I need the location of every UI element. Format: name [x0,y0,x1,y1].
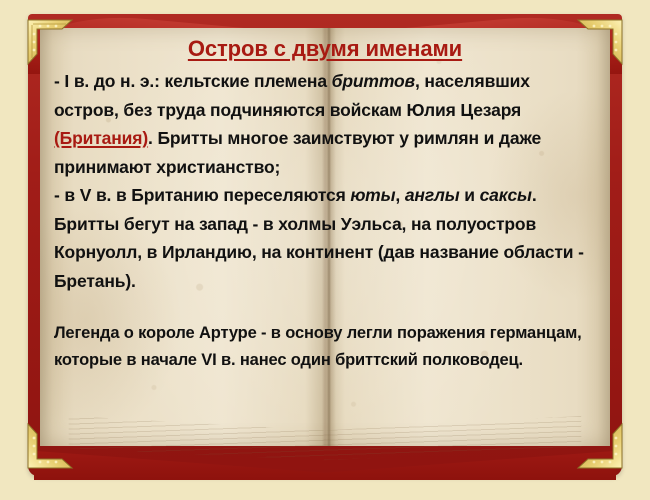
p2-italic-angly: англы [405,185,460,205]
p1-seg1: - I в. до н. э.: кельтские племена [54,71,332,91]
p2-italic-yuty: юты [350,185,395,205]
p2-seg5: и [460,185,480,205]
paragraph-roman-conquest: - I в. до н. э.: кельтские племена бритт… [54,67,596,181]
page-title: Остров с двумя именами [54,36,596,62]
p2-italic-saksy: саксы [480,185,532,205]
p2-seg3: , [395,185,404,205]
slide-canvas: Остров с двумя именами - I в. до н. э.: … [0,0,650,500]
p1-highlight-britannia: (Британия) [54,128,148,148]
p1-italic-britts: бриттов [332,71,415,91]
p2-seg1: - в V в. в Британию переселяются [54,185,350,205]
slide-text-content: Остров с двумя именами - I в. до н. э.: … [40,36,610,436]
paragraph-germanic-migration: - в V в. в Британию переселяются юты, ан… [54,181,596,295]
paragraph-king-arthur-legend: Легенда о короле Артуре - в основу легли… [54,320,596,374]
